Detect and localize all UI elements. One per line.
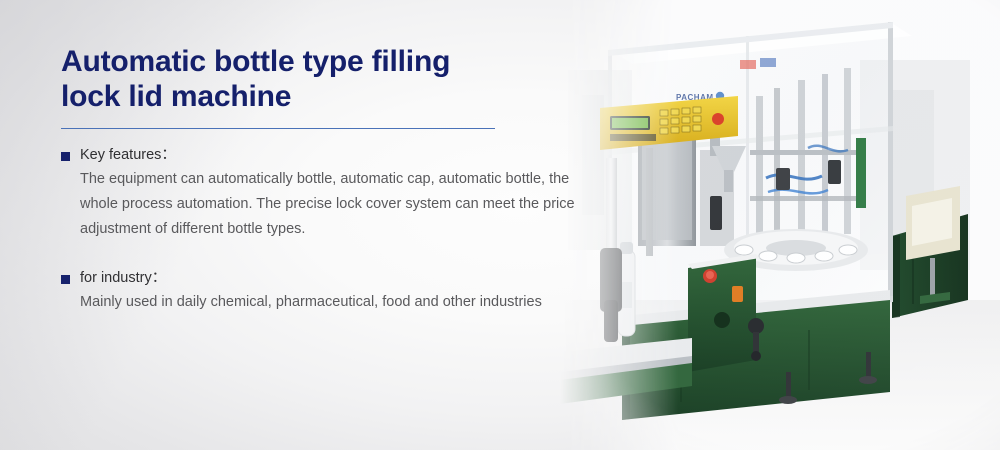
square-bullet-icon: [61, 152, 70, 161]
product-photo: PACHAM: [560, 0, 1000, 450]
page-title: Automatic bottle type filling lock lid m…: [61, 44, 601, 114]
feature-heading: for industry：: [61, 269, 601, 288]
feature-label: for industry：: [80, 269, 166, 288]
feature-block-key-features: Key features： The equipment can automati…: [61, 146, 601, 242]
feature-description: The equipment can automatically bottle, …: [80, 167, 600, 242]
title-divider: [61, 128, 495, 129]
title-line-1: Automatic bottle type filling: [61, 45, 450, 78]
feature-block-for-industry: for industry： Mainly used in daily chemi…: [61, 269, 601, 315]
feature-label: Key features：: [80, 146, 176, 165]
feature-heading: Key features：: [61, 146, 601, 165]
title-line-2: lock lid machine: [61, 79, 601, 114]
product-banner: PACHAM: [0, 0, 1000, 450]
square-bullet-icon: [61, 275, 70, 284]
machine-illustration: PACHAM: [560, 0, 1000, 450]
feature-description: Mainly used in daily chemical, pharmaceu…: [80, 290, 600, 315]
copy-column: Automatic bottle type filling lock lid m…: [61, 44, 601, 315]
